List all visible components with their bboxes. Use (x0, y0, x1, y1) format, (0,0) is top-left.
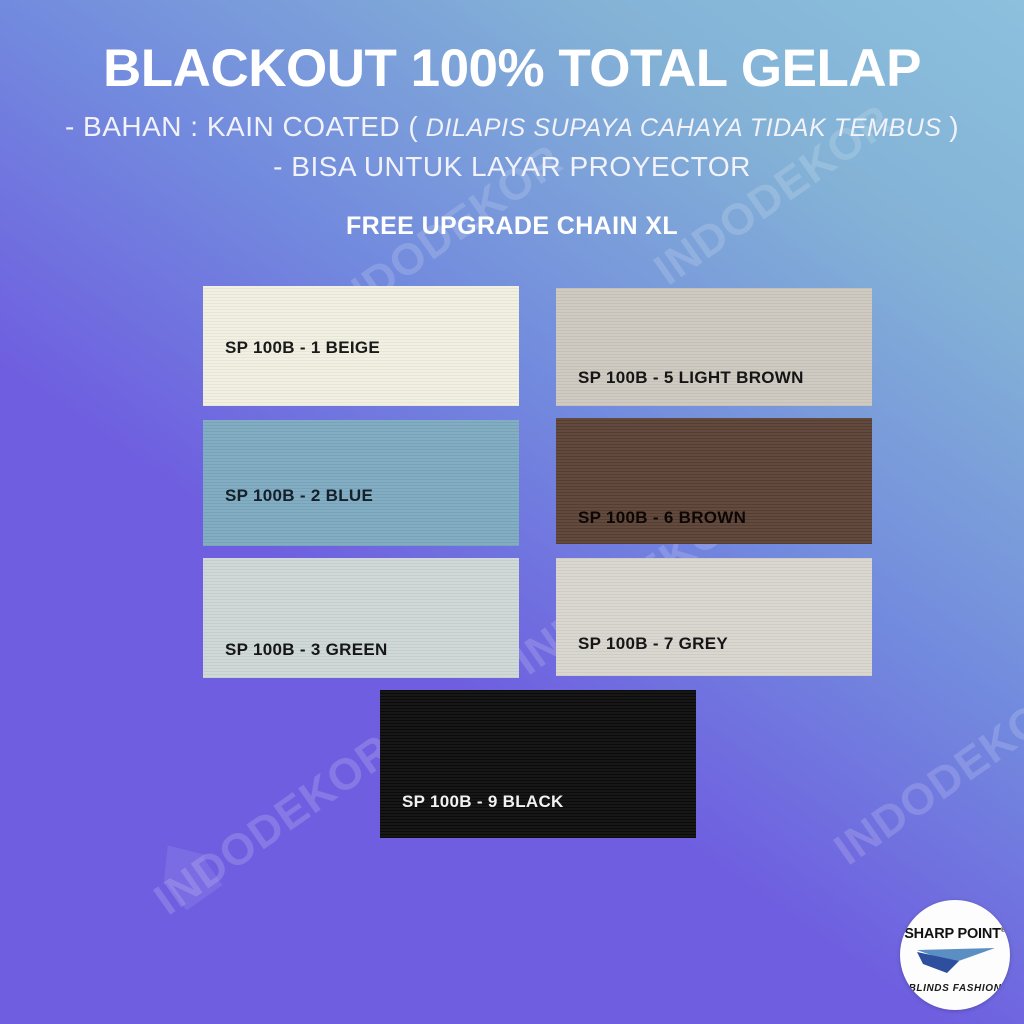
material-line: - BAHAN : KAIN COATED ( DILAPIS SUPAYA C… (0, 98, 1024, 146)
poster-headings: BLACKOUT 100% TOTAL GELAP - BAHAN : KAIN… (0, 0, 1024, 241)
swatch-label: SP 100B - 3 GREEN (225, 640, 388, 660)
watermark-text: INDODEKOR (826, 675, 1024, 875)
swatch-label: SP 100B - 5 LIGHT BROWN (578, 368, 804, 388)
material-line-suffix: ) (949, 111, 959, 142)
color-swatch[interactable]: SP 100B - 2 BLUE (203, 420, 519, 546)
material-line-prefix: - BAHAN : KAIN COATED ( (65, 111, 418, 142)
swatch-texture (380, 690, 696, 838)
product-poster: INDODEKOR INDODEKOR INDODEKOR INDODEKOR … (0, 0, 1024, 1024)
color-swatch[interactable]: SP 100B - 7 GREY (556, 558, 872, 676)
color-swatch[interactable]: SP 100B - 5 LIGHT BROWN (556, 288, 872, 406)
projector-line: - BISA UNTUK LAYAR PROYECTOR (0, 146, 1024, 186)
watermark-text: INDODEKOR (146, 725, 402, 925)
swoosh-logo-icon (913, 944, 997, 974)
page-title: BLACKOUT 100% TOTAL GELAP (0, 0, 1024, 98)
swatch-texture (203, 420, 519, 546)
swatch-texture (556, 288, 872, 406)
swatch-texture (556, 558, 872, 676)
swatch-label: SP 100B - 2 BLUE (225, 486, 373, 506)
free-upgrade-line: FREE UPGRADE CHAIN XL (0, 186, 1024, 241)
swatch-texture (203, 558, 519, 678)
swatch-label: SP 100B - 1 BEIGE (225, 338, 380, 358)
brand-name: SHARP POINT® (900, 926, 1010, 942)
swatch-label: SP 100B - 7 GREY (578, 634, 728, 654)
color-swatch[interactable]: SP 100B - 9 BLACK (380, 690, 696, 838)
brand-name-text: SHARP POINT (904, 926, 1001, 942)
brand-logo-badge: SHARP POINT® BLINDS FASHION (900, 900, 1010, 1010)
swatch-label: SP 100B - 6 BROWN (578, 508, 746, 528)
watermark-house-icon (125, 811, 245, 928)
swatch-label: SP 100B - 9 BLACK (402, 792, 564, 812)
color-swatch[interactable]: SP 100B - 3 GREEN (203, 558, 519, 678)
color-swatch[interactable]: SP 100B - 1 BEIGE (203, 286, 519, 406)
registered-trademark-icon: ® (1001, 927, 1006, 934)
brand-tagline: BLINDS FASHION (900, 983, 1010, 994)
material-line-italic: DILAPIS SUPAYA CAHAYA TIDAK TEMBUS (418, 114, 949, 142)
color-swatch[interactable]: SP 100B - 6 BROWN (556, 418, 872, 544)
